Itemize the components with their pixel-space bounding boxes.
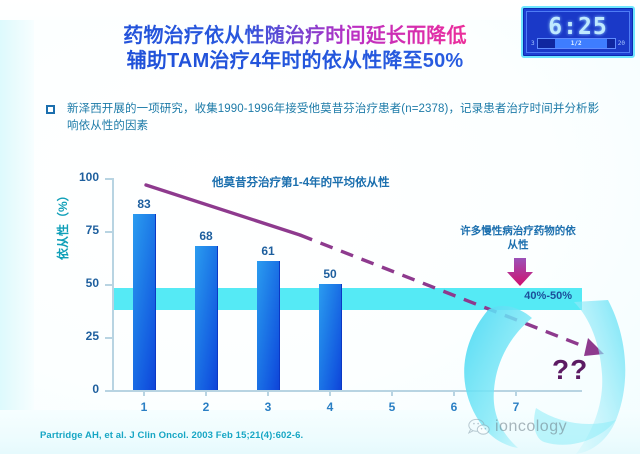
digital-timer-fraction-label: 1/2 (538, 39, 615, 48)
digital-timer-progress: 3 1/2 20 (531, 38, 625, 49)
bar-year-3: 61 (257, 261, 280, 390)
y-tick-label-75: 75 (86, 223, 99, 237)
y-tick-0: 0 (105, 390, 113, 392)
digital-timer-time: 6:25 (527, 14, 629, 40)
watermark-text: ioncology (495, 418, 567, 436)
y-tick-label-0: 0 (92, 382, 99, 396)
down-arrow-icon (507, 258, 533, 286)
average-compliance-note: 他莫昔芬治疗第1-4年的平均依从性 (212, 174, 390, 190)
x-tick-1 (143, 390, 145, 396)
y-tick-50: 50 (105, 284, 113, 286)
bar-year-1: 83 (133, 214, 156, 390)
bar-value-4: 50 (323, 267, 336, 281)
title-line-2: 辅助TAM治疗4年时的依从性降至50% (70, 49, 520, 74)
question-marks-annotation: ?? (552, 354, 588, 386)
x-tick-3 (267, 390, 269, 396)
x-tick-5 (391, 390, 393, 396)
y-tick-75: 75 (105, 231, 113, 233)
background-left-wash (0, 0, 34, 454)
chronic-disease-note: 许多慢性病治疗药物的依从性 (458, 224, 578, 252)
x-label-1: 1 (141, 400, 148, 414)
wechat-logo-icon (468, 418, 490, 436)
digital-timer-widget[interactable]: 6:25 3 1/2 20 (521, 6, 635, 58)
x-label-5: 5 (389, 400, 396, 414)
x-tick-4 (329, 390, 331, 396)
citation-text: Partridge AH, et al. J Clin Oncol. 2003 … (40, 430, 303, 441)
bar-year-4: 50 (319, 284, 342, 390)
x-label-3: 3 (265, 400, 272, 414)
x-label-7: 7 (513, 400, 520, 414)
x-tick-2 (205, 390, 207, 396)
y-tick-label-25: 25 (86, 329, 99, 343)
x-axis-line (112, 390, 582, 392)
x-label-2: 2 (203, 400, 210, 414)
x-label-6: 6 (451, 400, 458, 414)
slide-title: 药物治疗依从性随治疗时间延长而降低 辅助TAM治疗4年时的依从性降至50% (70, 24, 520, 74)
reference-band: 40%-50% (114, 288, 582, 310)
digital-timer-min-label: 3 (531, 40, 535, 47)
y-tick-25: 25 (105, 337, 113, 339)
y-tick-100: 100 (105, 178, 113, 180)
x-tick-6 (453, 390, 455, 396)
x-label-4: 4 (327, 400, 334, 414)
bar-chart: 依从性（%） 0 25 50 75 100 40%-50% (60, 168, 620, 418)
bar-value-3: 61 (261, 244, 274, 258)
digital-timer-track: 1/2 (537, 38, 616, 49)
bar-value-2: 68 (199, 229, 212, 243)
reference-band-label: 40%-50% (524, 290, 572, 302)
bullet-item: 新泽西开展的一项研究，收集1990-1996年接受他莫昔芬治疗患者(n=2378… (46, 101, 606, 135)
trend-line-solid-segment (146, 185, 300, 235)
slide-canvas: 6:25 3 1/2 20 药物治疗依从性随治疗时间延长而降低 辅助TAM治疗4… (0, 0, 640, 454)
bar-year-2: 68 (195, 246, 218, 390)
x-tick-7 (515, 390, 517, 396)
bar-value-1: 83 (137, 197, 150, 211)
y-tick-label-100: 100 (79, 170, 99, 184)
watermark: ioncology (468, 418, 567, 436)
digital-timer-max-label: 20 (618, 40, 625, 47)
digital-timer-screen: 6:25 3 1/2 20 (526, 11, 630, 53)
title-line-1: 药物治疗依从性随治疗时间延长而降低 (70, 24, 520, 49)
y-tick-label-50: 50 (86, 276, 99, 290)
y-axis-title: 依从性（%） (54, 189, 71, 260)
bullet-text: 新泽西开展的一项研究，收集1990-1996年接受他莫昔芬治疗患者(n=2378… (67, 101, 606, 135)
bullet-square-icon (46, 105, 55, 114)
